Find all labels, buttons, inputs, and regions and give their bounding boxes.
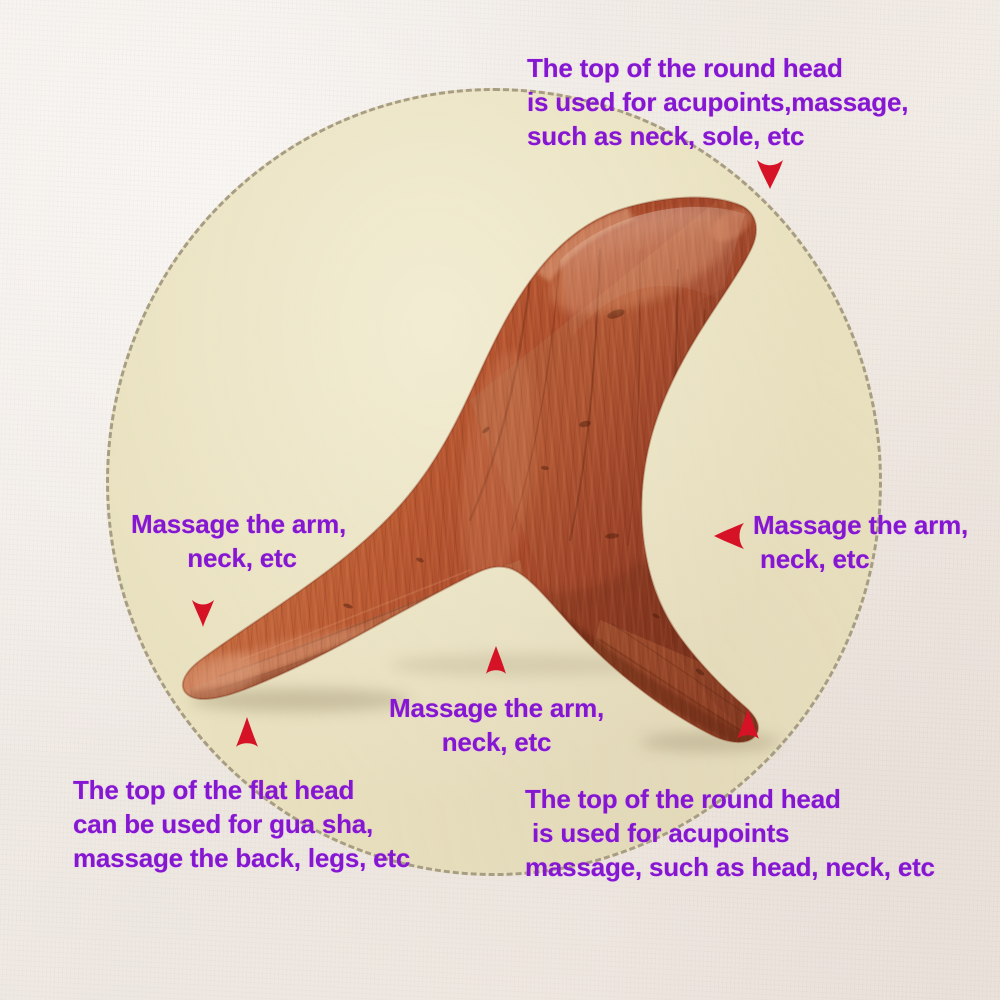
arrow-down-icon bbox=[755, 158, 785, 190]
arrow-left-icon bbox=[712, 521, 746, 551]
infographic-canvas: The top of the round head is used for ac… bbox=[0, 0, 1000, 1000]
arrow-up-icon bbox=[484, 645, 508, 675]
round-head-top-callout: The top of the round head is used for ac… bbox=[527, 52, 908, 153]
flat-head-callout: The top of the flat head can be used for… bbox=[73, 774, 410, 875]
center-arm-callout: Massage the arm, neck, etc bbox=[389, 692, 604, 760]
round-head-bottom-callout: The top of the round head is used for ac… bbox=[525, 783, 935, 884]
arrow-up-icon bbox=[735, 708, 761, 740]
arrow-down-icon bbox=[190, 598, 216, 628]
right-arm-callout: Massage the arm, neck, etc bbox=[753, 509, 968, 577]
arrow-up-icon bbox=[234, 716, 260, 748]
left-arm-callout: Massage the arm, neck, etc bbox=[131, 508, 346, 576]
